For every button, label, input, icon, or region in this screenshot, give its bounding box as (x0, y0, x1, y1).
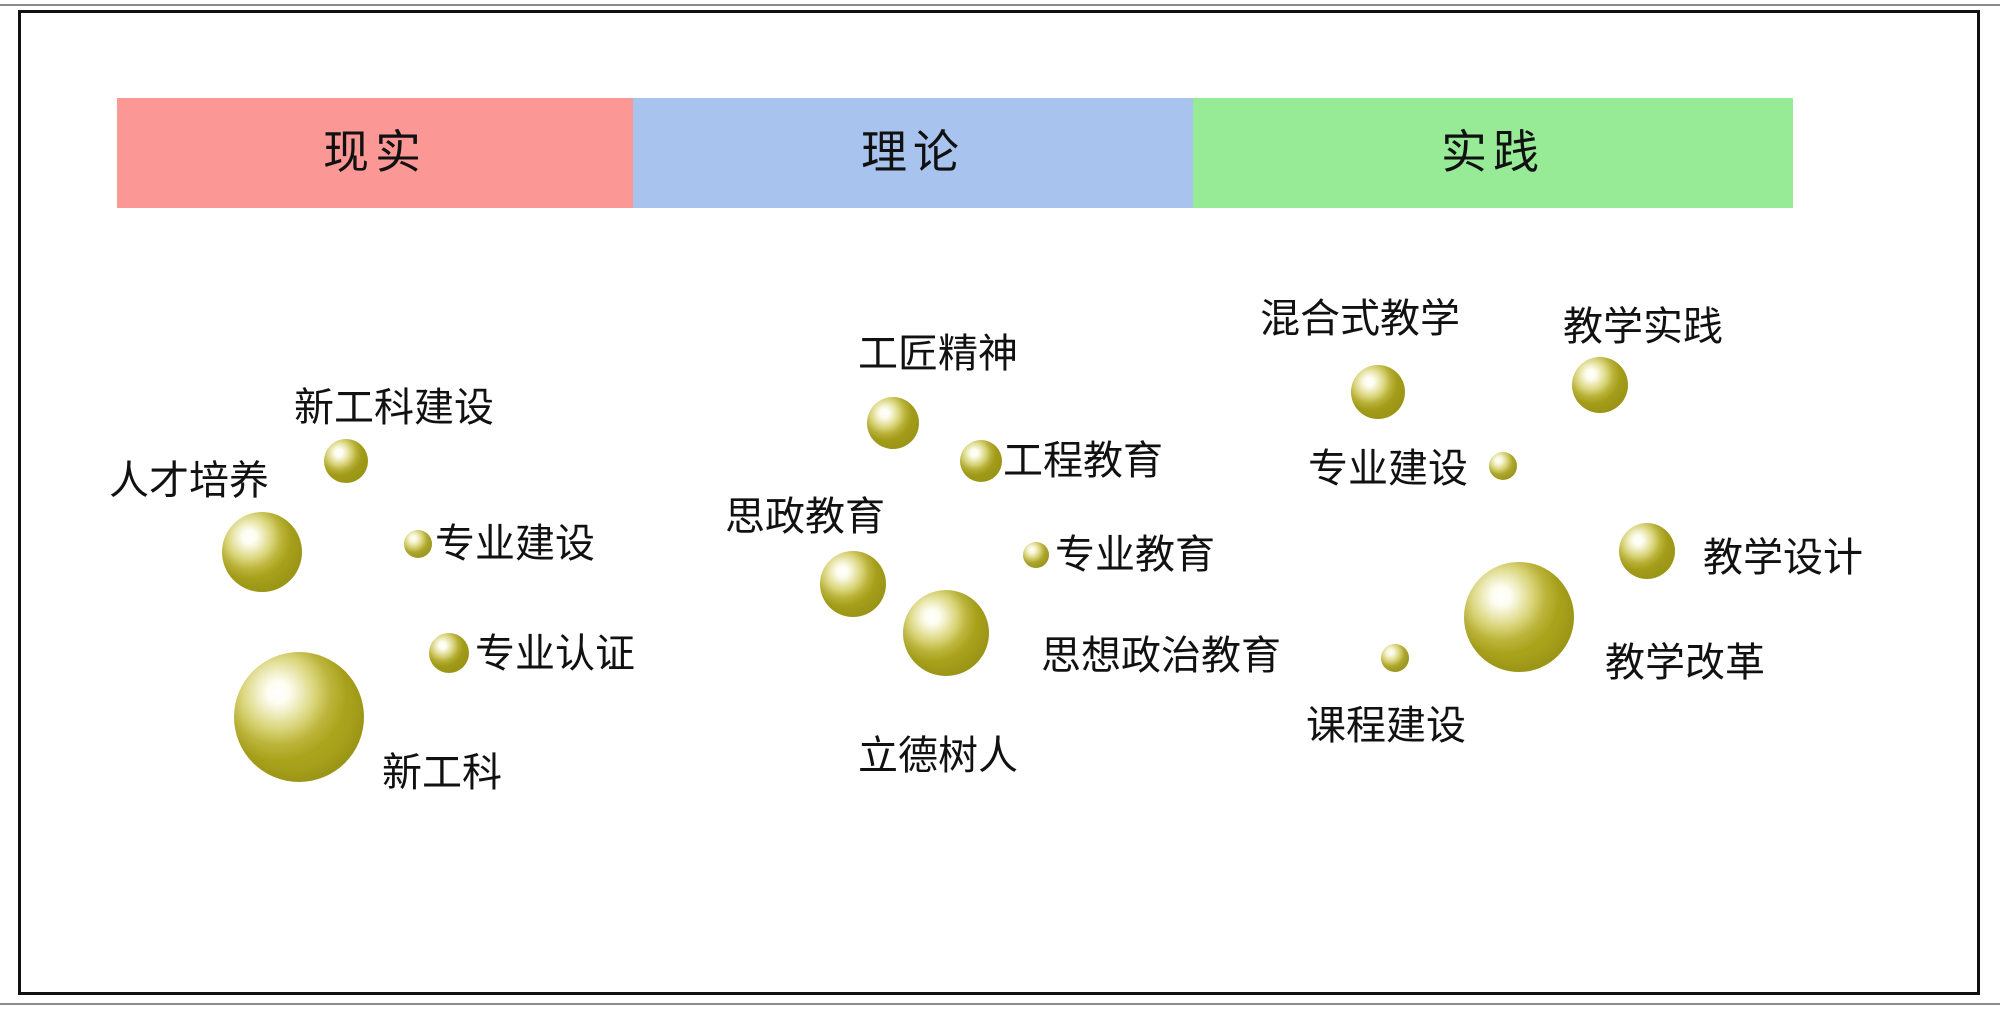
bubble-node[interactable] (1381, 644, 1409, 672)
bubble-label: 工匠精神 (858, 334, 1018, 374)
bubble-node[interactable] (960, 440, 1002, 482)
bubble-label: 人才培养 (109, 461, 269, 501)
bubble-label: 课程建设 (1306, 706, 1466, 746)
bubble-label: 新工科 (382, 753, 502, 793)
bubble-node[interactable] (1572, 357, 1628, 413)
category-band-2[interactable]: 理论 (633, 98, 1193, 208)
bubble-label: 专业认证 (475, 634, 635, 674)
bubble-label: 教学实践 (1563, 307, 1723, 347)
figure-frame: 现实理论实践 新工科建设人才培养专业建设专业认证新工科工匠精神工程教育思政教育专… (18, 10, 1980, 995)
bubble-node[interactable] (1619, 523, 1675, 579)
bubble-label: 教学设计 (1703, 538, 1863, 578)
bubble-node[interactable] (867, 397, 919, 449)
category-band: 现实理论实践 (117, 98, 1793, 208)
bubble-node[interactable] (1489, 452, 1517, 480)
bubble-node[interactable] (404, 530, 432, 558)
bubble-label: 思想政治教育 (1041, 636, 1281, 676)
category-band-label: 理论 (861, 130, 965, 176)
bubble-label: 立德树人 (858, 736, 1018, 776)
bubble-label: 专业教育 (1055, 535, 1215, 575)
bottom-rule (0, 1003, 2000, 1005)
top-rule (0, 4, 2000, 6)
bubble-label: 工程教育 (1003, 441, 1163, 481)
bubble-node[interactable] (1351, 365, 1405, 419)
category-band-label: 现实 (323, 130, 427, 176)
bubble-node[interactable] (1023, 542, 1049, 568)
bubble-node[interactable] (222, 512, 302, 592)
bubble-label: 思政教育 (725, 497, 885, 537)
bubble-node[interactable] (903, 590, 989, 676)
bubble-node[interactable] (820, 551, 886, 617)
bubble-node[interactable] (429, 633, 469, 673)
bubble-node[interactable] (324, 439, 368, 483)
category-band-label: 实践 (1441, 130, 1545, 176)
category-band-3[interactable]: 实践 (1193, 98, 1793, 208)
figure-canvas: 现实理论实践 新工科建设人才培养专业建设专业认证新工科工匠精神工程教育思政教育专… (0, 0, 2000, 1009)
bubble-node[interactable] (1464, 562, 1574, 672)
bubble-label: 教学改革 (1605, 643, 1765, 683)
bubble-label: 混合式教学 (1260, 299, 1460, 339)
bubble-node[interactable] (234, 652, 364, 782)
bubble-label: 新工科建设 (294, 388, 494, 428)
bubble-label: 专业建设 (1308, 449, 1468, 489)
bubble-label: 专业建设 (435, 524, 595, 564)
category-band-1[interactable]: 现实 (117, 98, 633, 208)
